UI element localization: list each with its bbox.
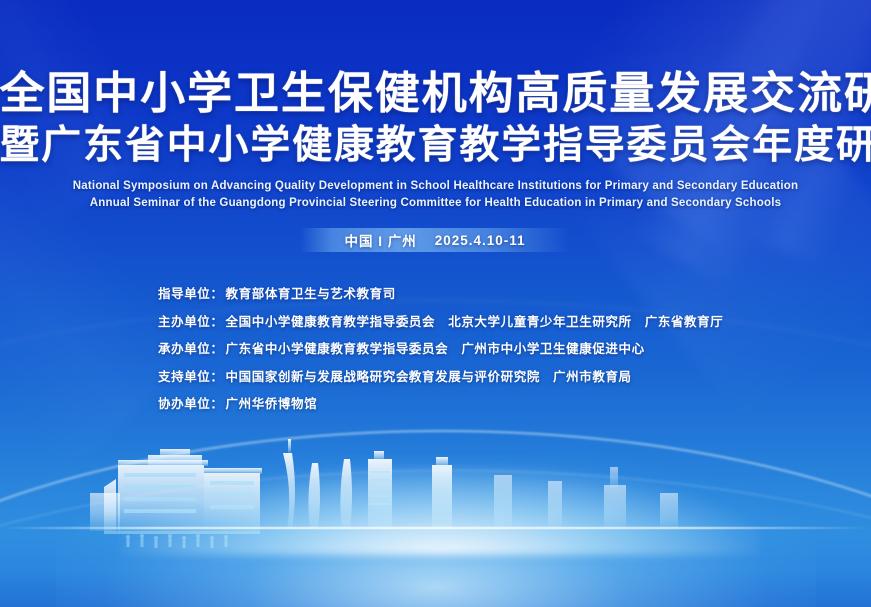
organizer-row: 协办单位：广州华侨博物馆 [158,398,723,411]
organizer-value: 广州华侨博物馆 [226,397,318,411]
school-building-icon [90,449,262,548]
organizer-list: 指导单位：教育部体育卫生与艺术教育司 主办单位：全国中小学健康教育教学指导委员会… [158,288,723,426]
skyline-illustration [0,427,871,607]
organizer-row: 指导单位：教育部体育卫生与艺术教育司 [158,288,723,301]
poster-title-block: 全国中小学卫生保健机构高质量发展交流研讨活动 暨广东省中小学健康教育教学指导委员… [0,72,871,213]
canton-tower-icon [283,439,295,529]
horizon-glow [56,455,816,607]
organizer-label: 协办单位： [158,397,224,411]
organizer-label: 支持单位： [158,370,224,384]
conference-poster: 全国中小学卫生保健机构高质量发展交流研讨活动 暨广东省中小学健康教育教学指导委员… [0,0,871,607]
poster-english-subtitle: National Symposium on Advancing Quality … [0,178,871,213]
organizer-row: 主办单位：全国中小学健康教育教学指导委员会 北京大学儿童青少年卫生研究所 广东省… [158,316,723,329]
organizer-value: 教育部体育卫生与艺术教育司 [226,287,396,301]
organizer-row: 支持单位：中国国家创新与发展战略研究会教育发展与评价研究院 广州市教育局 [158,371,723,384]
event-date: 2025.4.10-11 [435,233,526,248]
organizer-label: 指导单位： [158,287,224,301]
poster-english-subtitle-line2: Annual Seminar of the Guangdong Provinci… [0,195,871,212]
office-tower-icon [368,451,392,529]
high-rise-tower-icon [432,457,452,529]
organizer-label: 承办单位： [158,342,224,356]
far-tower-group-icon [494,467,678,529]
poster-main-title: 全国中小学卫生保健机构高质量发展交流研讨活动 [0,72,871,116]
poster-english-subtitle-line1: National Symposium on Advancing Quality … [0,178,871,195]
organizer-row: 承办单位：广东省中小学健康教育教学指导委员会 广州市中小学卫生健康促进中心 [158,343,723,356]
horizon-arc [0,470,871,607]
organizer-label: 主办单位： [158,315,224,329]
skyline-haze [120,465,760,555]
horizon-arc [0,430,871,607]
event-location-date-bar: 中国 I 广州 2025.4.10-11 [300,228,570,252]
horizon-line [0,527,871,529]
organizer-value: 全国中小学健康教育教学指导委员会 北京大学儿童青少年卫生研究所 广东省教育厅 [226,315,724,329]
organizer-value: 广东省中小学健康教育教学指导委员会 广州市中小学卫生健康促进中心 [226,342,645,356]
event-location: 中国 I 广州 [344,230,416,250]
organizer-value: 中国国家创新与发展战略研究会教育发展与评价研究院 广州市教育局 [226,370,632,384]
poster-sub-title: 暨广东省中小学健康教育教学指导委员会年度研讨活动 [0,126,871,165]
twin-spire-tower-icon [308,459,352,529]
skyline-svg [0,427,871,607]
